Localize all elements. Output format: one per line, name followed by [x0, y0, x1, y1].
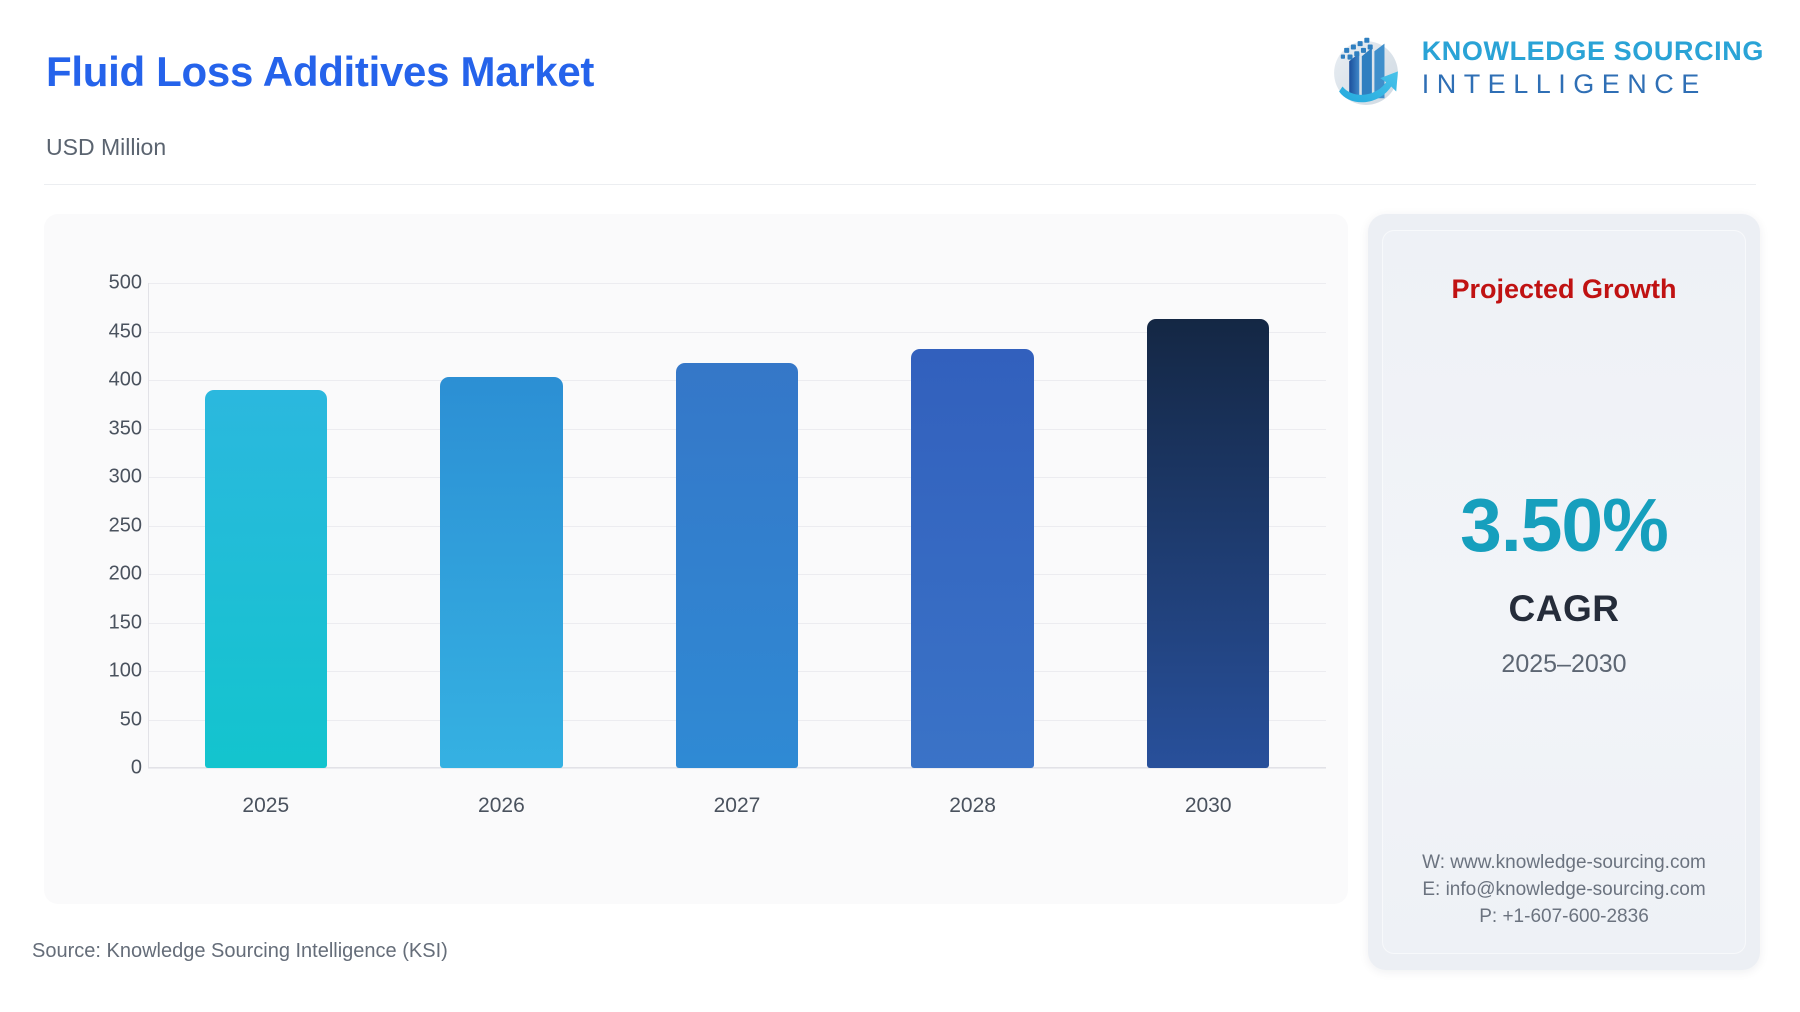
gridline	[148, 768, 1326, 769]
x-tick-label: 2027	[676, 794, 799, 818]
bar-2025[interactable]	[205, 390, 328, 768]
header-divider	[44, 184, 1756, 185]
source-note: Source: Knowledge Sourcing Intelligence …	[32, 940, 448, 963]
contact-phone[interactable]: P: +1-607-600-2836	[1382, 903, 1746, 930]
projected-growth-card: Projected Growth 3.50% CAGR 2025–2030 W:…	[1368, 214, 1760, 970]
y-tick-label: 250	[109, 514, 142, 537]
y-tick-label: 50	[120, 708, 142, 731]
bar-slot	[676, 283, 799, 768]
y-tick-label: 400	[109, 369, 142, 392]
bar-slot	[440, 283, 563, 768]
cagr-value: 3.50%	[1382, 482, 1746, 568]
logo-line-1: KNOWLEDGE SOURCING	[1422, 36, 1764, 67]
projected-growth-inner: Projected Growth 3.50% CAGR 2025–2030 W:…	[1382, 230, 1746, 954]
y-tick-label: 0	[131, 757, 142, 780]
bar-slot	[911, 283, 1034, 768]
bar-2026[interactable]	[440, 377, 563, 768]
projected-growth-title: Projected Growth	[1382, 274, 1746, 305]
bar-chart: 050100150200250300350400450500 202520262…	[44, 214, 1348, 904]
y-tick-label: 300	[109, 466, 142, 489]
page-subtitle: USD Million	[46, 134, 166, 161]
bars-layer	[148, 283, 1326, 768]
contact-website[interactable]: W: www.knowledge-sourcing.com	[1382, 849, 1746, 876]
y-tick-label: 350	[109, 417, 142, 440]
bar-2027[interactable]	[676, 363, 799, 768]
x-tick-label: 2030	[1147, 794, 1270, 818]
y-tick-label: 200	[109, 563, 142, 586]
bar-slot	[1147, 283, 1270, 768]
logo-line-2: INTELLIGENCE	[1422, 69, 1764, 100]
x-tick-label: 2028	[911, 794, 1034, 818]
brand-logo: KNOWLEDGE SOURCING INTELLIGENCE	[1324, 26, 1764, 110]
page-title: Fluid Loss Additives Market	[46, 48, 594, 96]
cagr-label: CAGR	[1382, 588, 1746, 630]
y-tick-label: 100	[109, 660, 142, 683]
x-tick-label: 2025	[205, 794, 328, 818]
y-tick-label: 500	[109, 272, 142, 295]
x-tick-label: 2026	[440, 794, 563, 818]
y-axis: 050100150200250300350400450500	[74, 214, 142, 904]
logo-wordmark: KNOWLEDGE SOURCING INTELLIGENCE	[1422, 36, 1764, 100]
y-tick-label: 450	[109, 320, 142, 343]
bar-2028[interactable]	[911, 349, 1034, 768]
contact-block: W: www.knowledge-sourcing.com E: info@kn…	[1382, 849, 1746, 930]
cagr-period: 2025–2030	[1382, 650, 1746, 679]
contact-email[interactable]: E: info@knowledge-sourcing.com	[1382, 876, 1746, 903]
bar-2030[interactable]	[1147, 319, 1270, 768]
chart-page: Fluid Loss Additives Market USD Million	[0, 0, 1800, 1012]
page-header: Fluid Loss Additives Market USD Million	[0, 0, 1800, 186]
y-tick-label: 150	[109, 611, 142, 634]
bar-slot	[205, 283, 328, 768]
knowledge-sourcing-logo-icon	[1324, 26, 1408, 110]
